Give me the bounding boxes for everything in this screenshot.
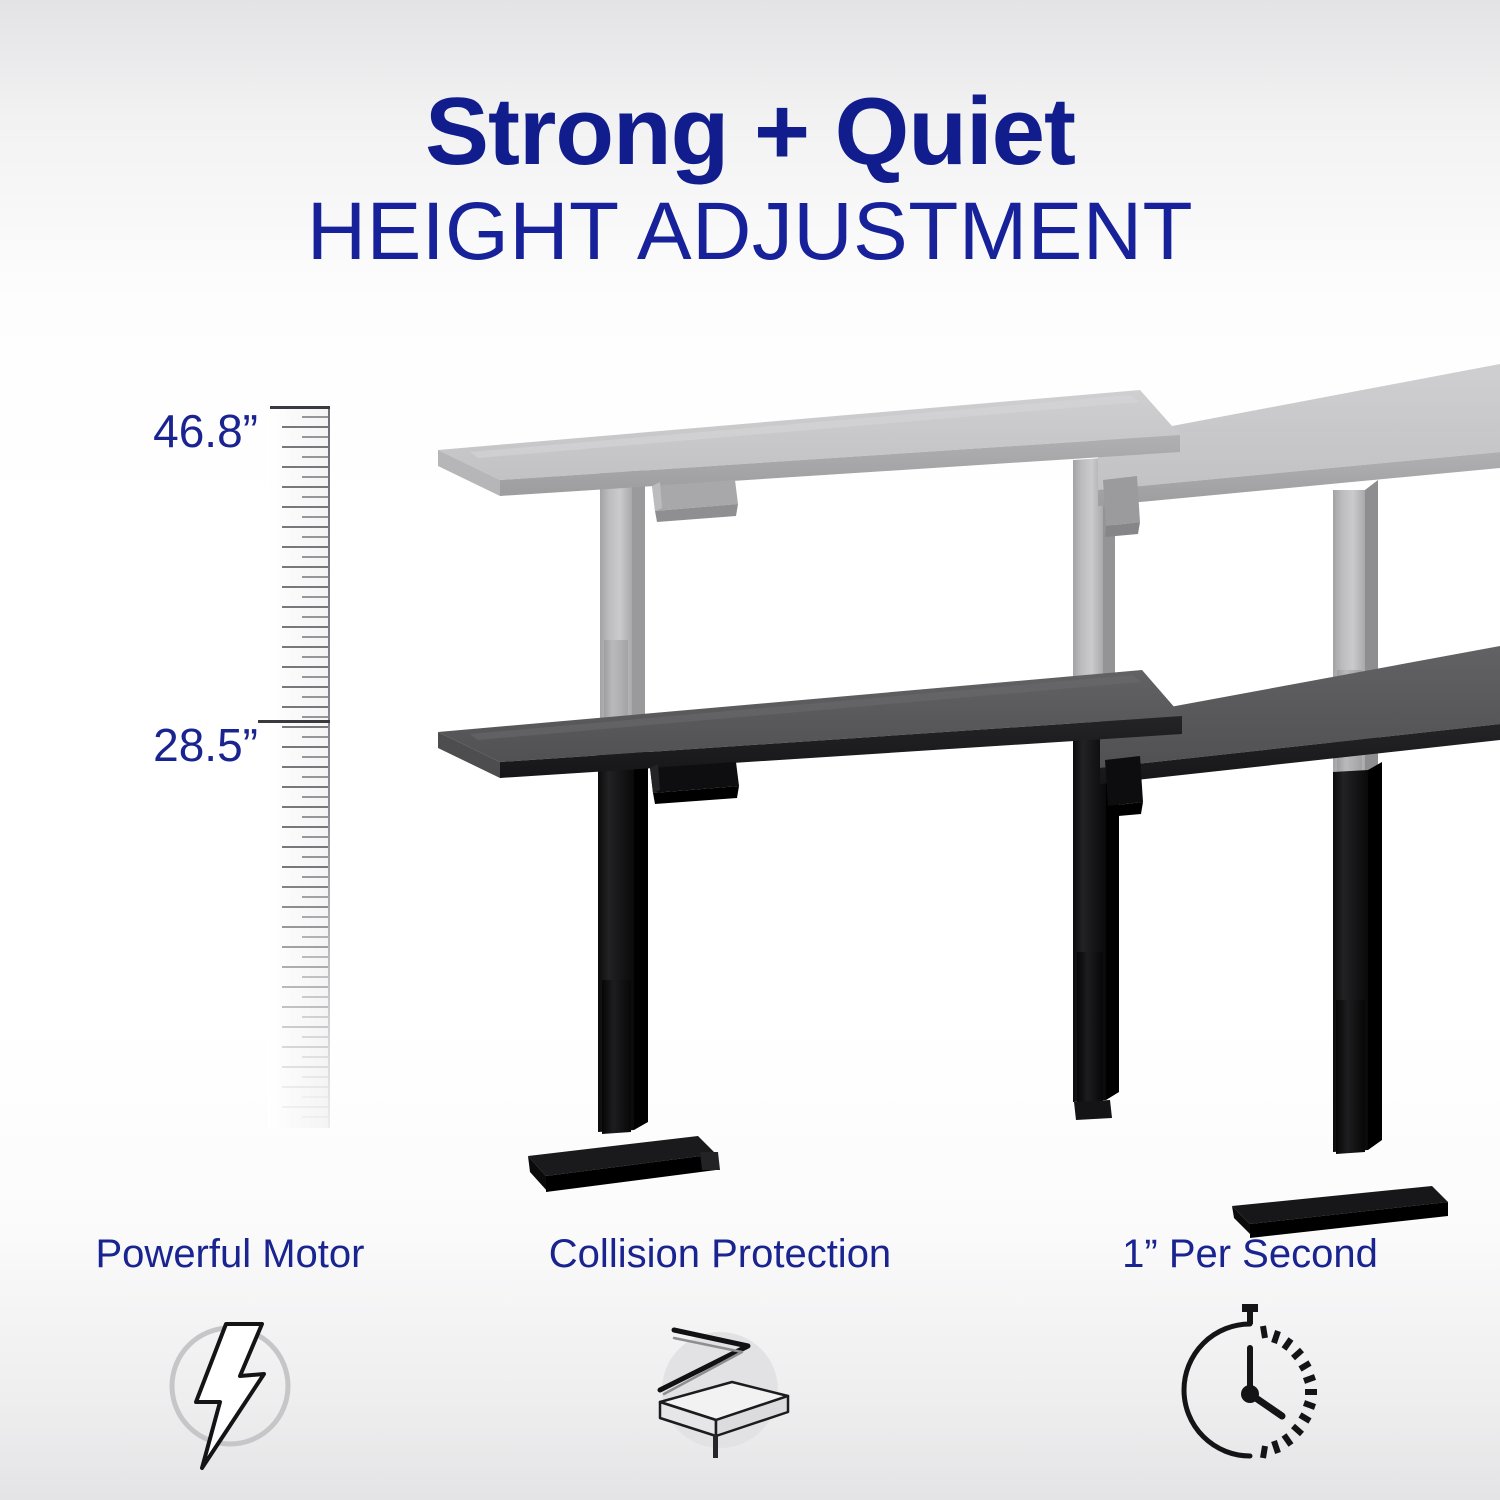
headline-primary: Strong + Quiet bbox=[0, 82, 1500, 183]
raised-desk-keypad bbox=[652, 480, 738, 522]
lowered-desk-keypad bbox=[650, 762, 739, 804]
headline-secondary: HEIGHT ADJUSTMENT bbox=[0, 189, 1500, 275]
feature-label-collision-protection: Collision Protection bbox=[490, 1232, 950, 1276]
feature-label-speed: 1” Per Second bbox=[1020, 1232, 1480, 1276]
lowered-desk-main-top bbox=[438, 670, 1182, 778]
feature-row: Powerful Motor Collision Protection bbox=[0, 1232, 1500, 1500]
stopwatch-icon bbox=[1150, 1298, 1350, 1488]
infographic-page: Strong + Quiet HEIGHT ADJUSTMENT 46.8” 2… bbox=[0, 0, 1500, 1500]
raised-desk-main-top bbox=[438, 390, 1180, 496]
desktop-collision-icon bbox=[620, 1298, 820, 1488]
lowered-desk-corner-bracket bbox=[1105, 756, 1143, 817]
desk-illustration bbox=[0, 340, 1500, 1240]
headline-block: Strong + Quiet HEIGHT ADJUSTMENT bbox=[0, 82, 1500, 275]
feature-powerful-motor: Powerful Motor bbox=[0, 1232, 460, 1488]
feature-speed: 1” Per Second bbox=[1020, 1232, 1480, 1488]
lightning-bolt-icon bbox=[130, 1298, 330, 1488]
lowered-desk-leg-right bbox=[1232, 762, 1448, 1238]
lowered-desk-leg-left bbox=[528, 742, 720, 1192]
lowered-desk-group bbox=[438, 646, 1500, 1238]
feature-label-powerful-motor: Powerful Motor bbox=[0, 1232, 460, 1276]
raised-desk-corner-bracket bbox=[1103, 476, 1140, 537]
feature-collision-protection: Collision Protection bbox=[490, 1232, 950, 1488]
